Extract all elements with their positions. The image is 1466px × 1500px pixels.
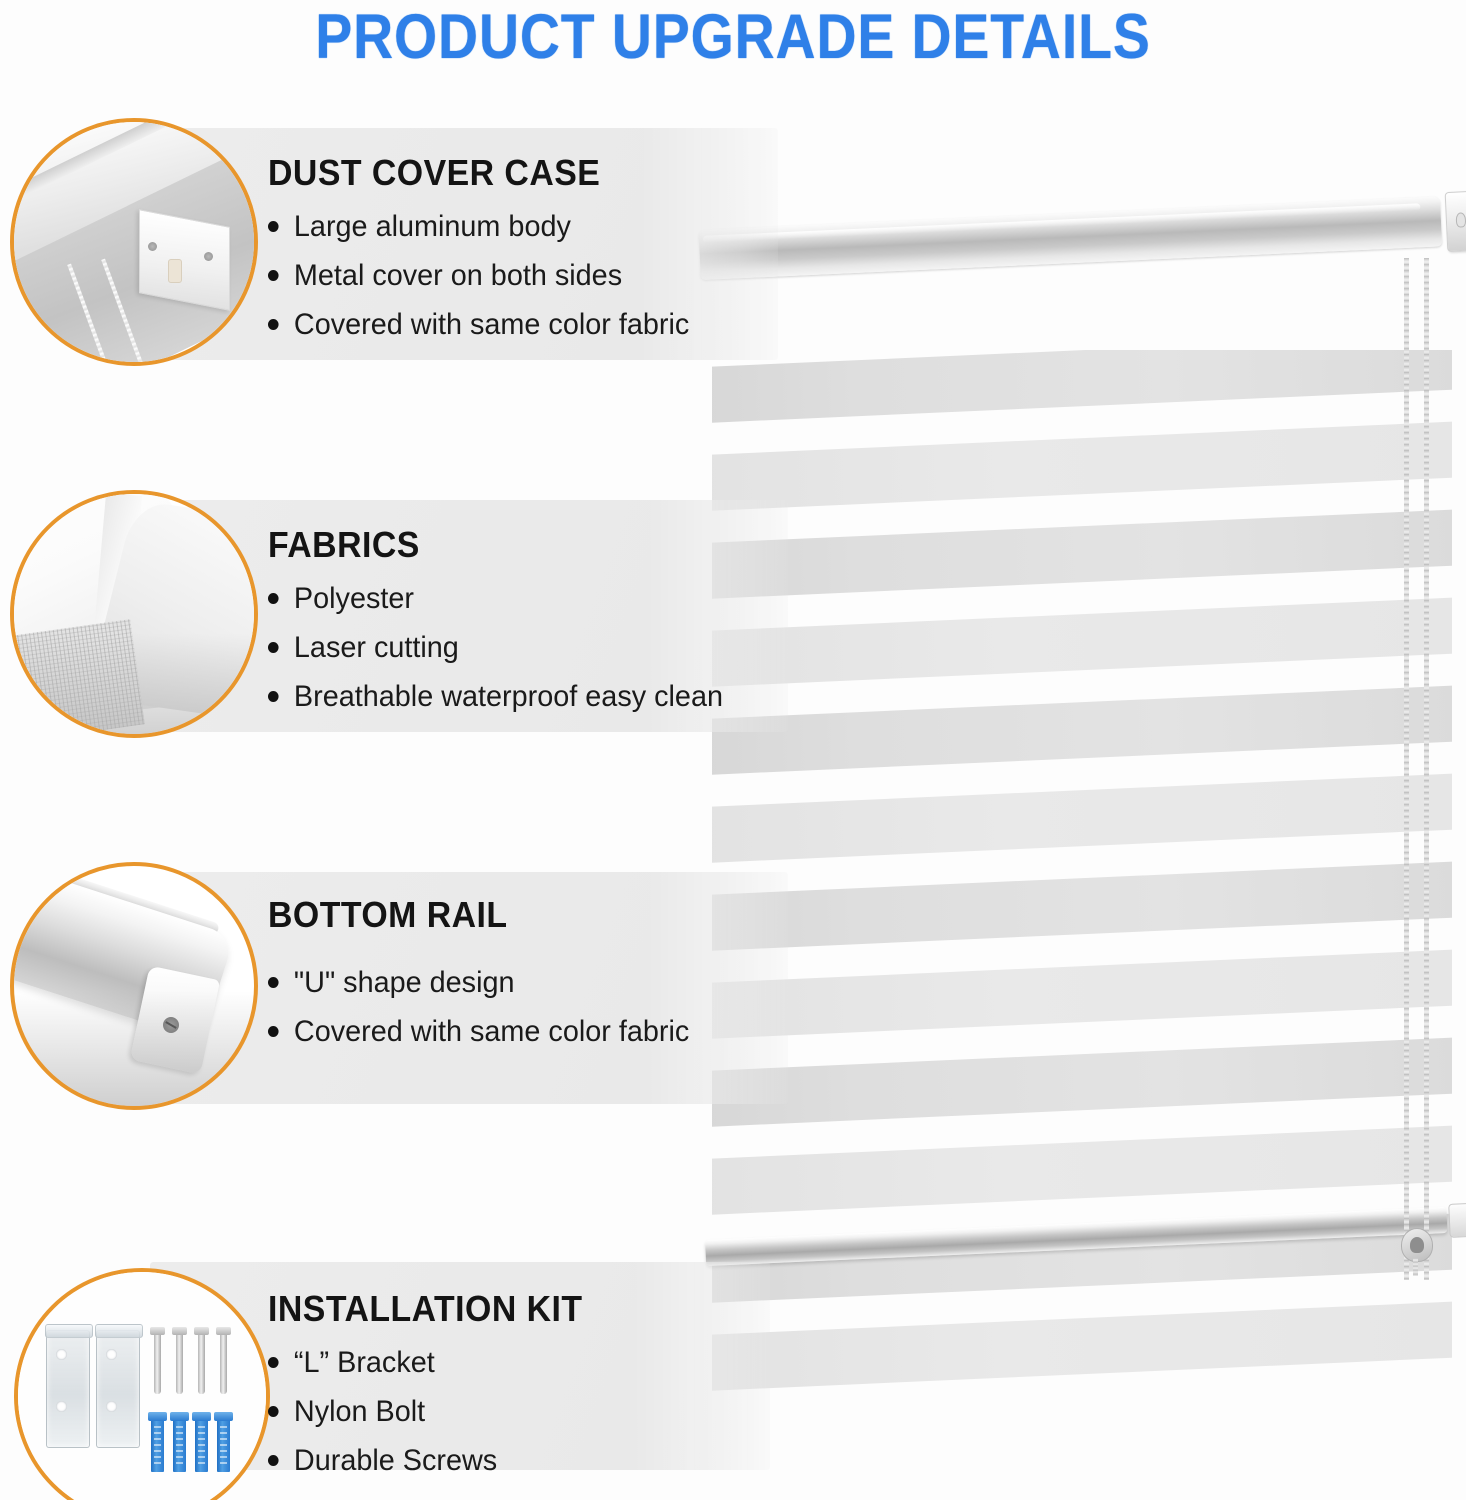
list-item: Large aluminum body [268, 202, 689, 251]
list-item: Laser cutting [268, 623, 723, 672]
feature-heading-3: BOTTOM RAIL [268, 894, 508, 936]
bead-chain-right-strand [1424, 258, 1429, 1280]
bullet-dot-icon [268, 319, 279, 330]
list-item: "U" shape design [268, 958, 689, 1007]
bullet-dot-icon [268, 221, 279, 232]
list-item: Durable Screws [268, 1436, 497, 1485]
list-item: Polyester [268, 574, 723, 623]
fabrics-photo [10, 490, 258, 738]
bullet-dot-icon [268, 691, 279, 702]
feature-bullets-4: “L” Bracket Nylon Bolt Durable Screws [268, 1338, 507, 1485]
zebra-blind-product-image [690, 200, 1466, 1360]
feature-bullets-1: Large aluminum body Metal cover on both … [268, 202, 707, 349]
chain-tensioner [1398, 1228, 1436, 1274]
list-item: Covered with same color fabric [268, 300, 689, 349]
bullet-dot-icon [268, 270, 279, 281]
feature-heading-4: INSTALLATION KIT [268, 1288, 583, 1330]
list-item: Nylon Bolt [268, 1387, 497, 1436]
bullet-dot-icon [268, 1455, 279, 1466]
product-headrail [699, 195, 1466, 292]
bottom-rail-end-cap [1448, 1203, 1466, 1238]
bullet-dot-icon [268, 1026, 279, 1037]
bullet-dot-icon [268, 1406, 279, 1417]
product-upgrade-infographic: PRODUCT UPGRADE DETAILS [0, 0, 1466, 1500]
bullet-dot-icon [268, 593, 279, 604]
feature-heading-2: FABRICS [268, 524, 420, 566]
headrail-end-cap [1445, 191, 1466, 252]
feature-heading-1: DUST COVER CASE [268, 152, 600, 194]
feature-bullets-2: Polyester Laser cutting Breathable water… [268, 574, 742, 721]
bead-chain-left-strand [1404, 258, 1409, 1280]
bullet-dot-icon [268, 642, 279, 653]
bullet-dot-icon [268, 1357, 279, 1368]
list-item: “L” Bracket [268, 1338, 497, 1387]
feature-bullets-3: "U" shape design Covered with same color… [268, 958, 707, 1056]
dust-cover-case-photo [10, 118, 258, 366]
page-title: PRODUCT UPGRADE DETAILS [88, 2, 1378, 72]
bottom-rail-photo [10, 862, 258, 1110]
installation-kit-photo [14, 1268, 270, 1500]
list-item: Covered with same color fabric [268, 1007, 689, 1056]
list-item: Metal cover on both sides [268, 251, 689, 300]
bullet-dot-icon [268, 977, 279, 988]
list-item: Breathable waterproof easy clean [268, 672, 723, 721]
